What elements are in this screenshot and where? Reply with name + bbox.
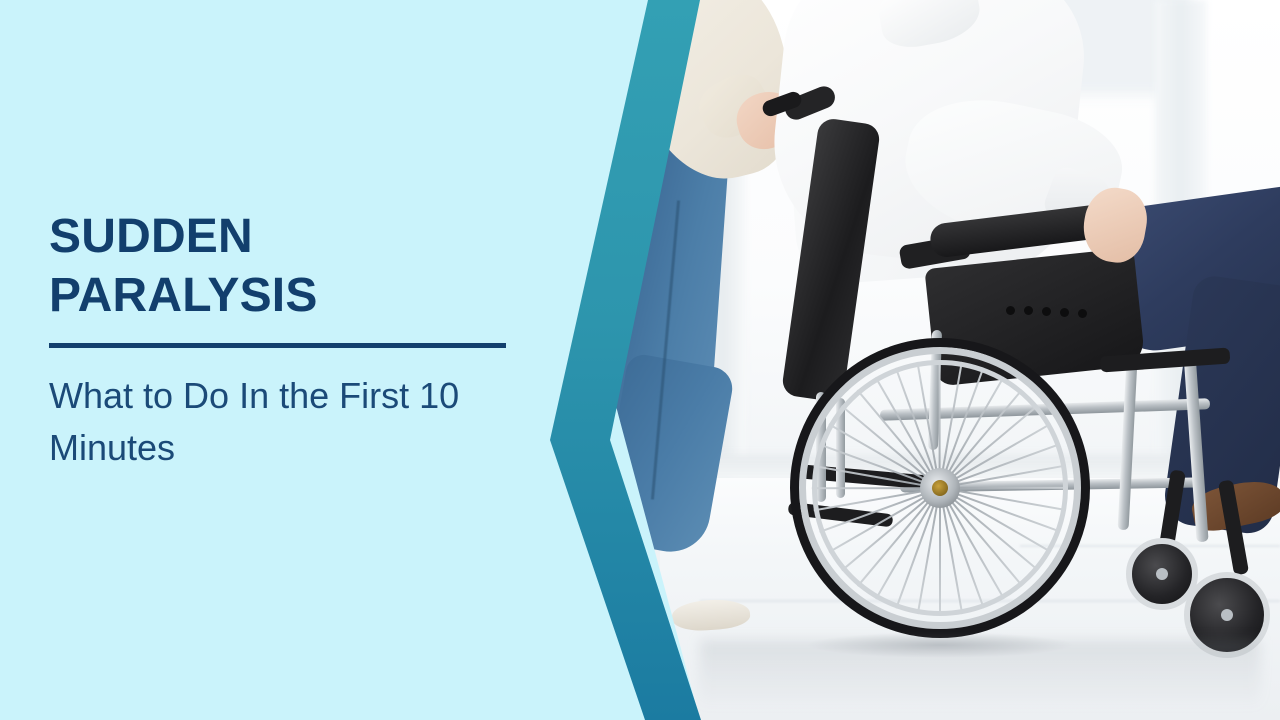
caster-hub — [1221, 609, 1233, 621]
side-panel-vent — [1078, 309, 1087, 318]
side-panel-vent — [1006, 306, 1015, 315]
wheel-hub-core — [932, 480, 948, 496]
text-panel: SUDDEN PARALYSIS What to Do In the First… — [0, 0, 660, 720]
floor-reflection — [700, 640, 1260, 720]
page-subtitle: What to Do In the First 10 Minutes — [49, 370, 529, 474]
side-panel-vent — [1060, 308, 1069, 317]
title-divider — [49, 343, 506, 348]
wheel-hub — [920, 468, 960, 508]
side-panel-vent — [1024, 306, 1033, 315]
banner-root: SUDDEN PARALYSIS What to Do In the First… — [0, 0, 1280, 720]
wheelchair-rear-wheel — [790, 338, 1090, 638]
side-panel-vent — [1042, 307, 1051, 316]
page-title: SUDDEN PARALYSIS — [49, 208, 519, 325]
caster-hub — [1156, 568, 1168, 580]
